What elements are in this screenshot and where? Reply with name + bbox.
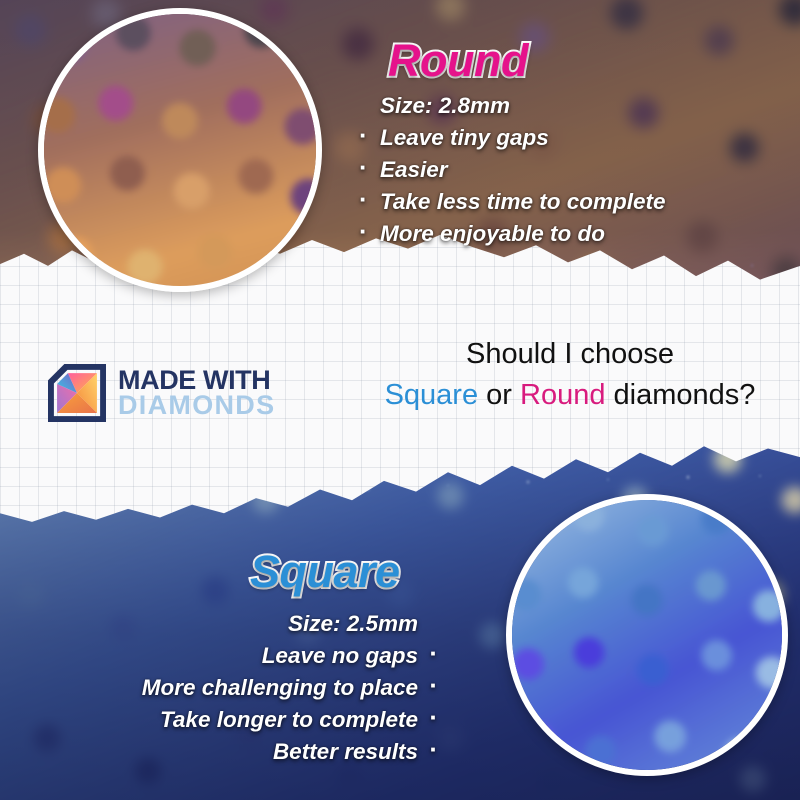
square-list-item: Leave no gaps <box>142 640 442 672</box>
round-feature-list: Size: 2.8mm Leave tiny gaps Easier Take … <box>356 90 666 250</box>
tagline-suffix: diamonds? <box>605 379 755 411</box>
round-list-item: Size: 2.8mm <box>356 90 666 122</box>
round-list-item: Easier <box>356 154 666 186</box>
infographic-canvas: Round Size: 2.8mm Leave tiny gaps Easier… <box>0 0 800 800</box>
round-title: Round <box>388 38 528 83</box>
tagline: Should I choose Square or Round diamonds… <box>340 334 800 416</box>
brand-wordmark: MADE WITH DIAMONDS <box>118 368 275 418</box>
center-brand-band: MADE WITH DIAMONDS Should I choose Squar… <box>0 312 800 436</box>
diamond-gem-icon <box>48 364 106 422</box>
square-list-item: Take longer to complete <box>142 704 442 736</box>
tagline-word-round: Round <box>520 379 605 411</box>
brand-logo[interactable]: MADE WITH DIAMONDS <box>48 364 275 422</box>
tagline-connector: or <box>478 379 520 411</box>
round-list-item: More enjoyable to do <box>356 218 666 250</box>
tagline-line-2: Square or Round diamonds? <box>340 375 800 416</box>
tagline-line-1: Should I choose <box>340 334 800 375</box>
round-list-item: Leave tiny gaps <box>356 122 666 154</box>
round-diamonds-inset-photo <box>38 8 322 292</box>
tagline-word-square: Square <box>385 379 479 411</box>
square-diamonds-inset-photo <box>506 494 788 776</box>
round-list-item: Take less time to complete <box>356 186 666 218</box>
square-feature-list: Size: 2.5mm Leave no gaps More challengi… <box>142 608 442 768</box>
round-diamonds-inset-circle <box>38 8 322 292</box>
square-diamonds-inset-circle <box>506 494 788 776</box>
square-list-item: Size: 2.5mm <box>142 608 442 640</box>
square-title: Square <box>250 549 400 594</box>
square-list-item: Better results <box>142 736 442 768</box>
square-list-item: More challenging to place <box>142 672 442 704</box>
brand-line-2: DIAMONDS <box>118 393 275 418</box>
